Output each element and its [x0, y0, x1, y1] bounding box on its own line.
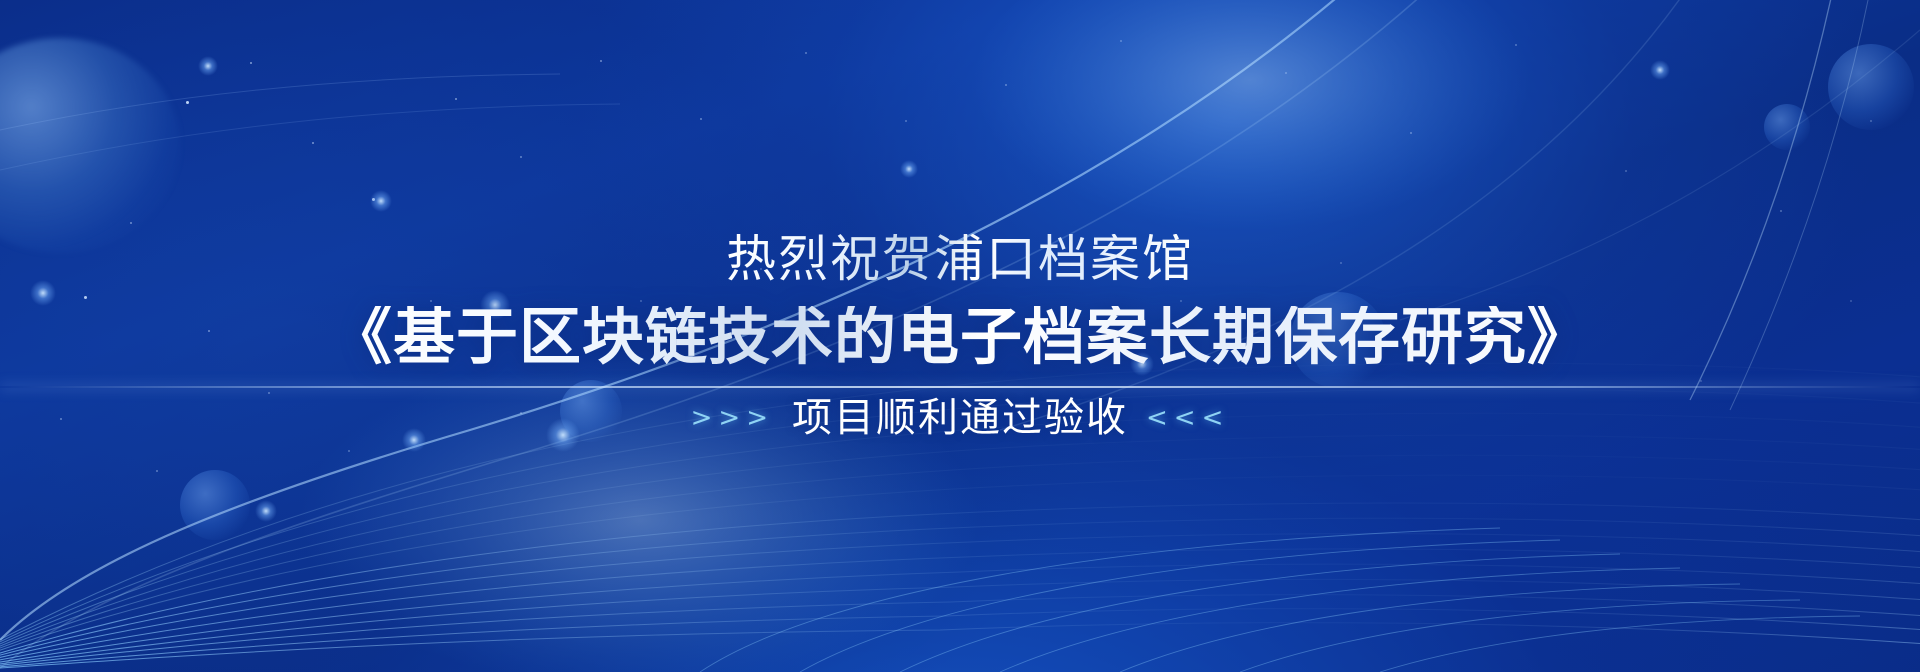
chevron-right-icon: >>> — [691, 405, 774, 431]
headline-line-2: 《基于区块链技术的电子档案长期保存研究》 — [330, 306, 1590, 368]
headline-line-3-label: 项目顺利通过验收 — [792, 398, 1128, 438]
headline-line-3: >>> 项目顺利通过验收 <<< — [691, 398, 1230, 438]
headline-line-1: 热烈祝贺浦口档案馆 — [726, 234, 1194, 284]
chevron-left-icon: <<< — [1146, 405, 1229, 431]
banner-canvas: 热烈祝贺浦口档案馆 《基于区块链技术的电子档案长期保存研究》 >>> 项目顺利通… — [0, 0, 1920, 672]
headline-block: 热烈祝贺浦口档案馆 《基于区块链技术的电子档案长期保存研究》 >>> 项目顺利通… — [0, 0, 1920, 672]
